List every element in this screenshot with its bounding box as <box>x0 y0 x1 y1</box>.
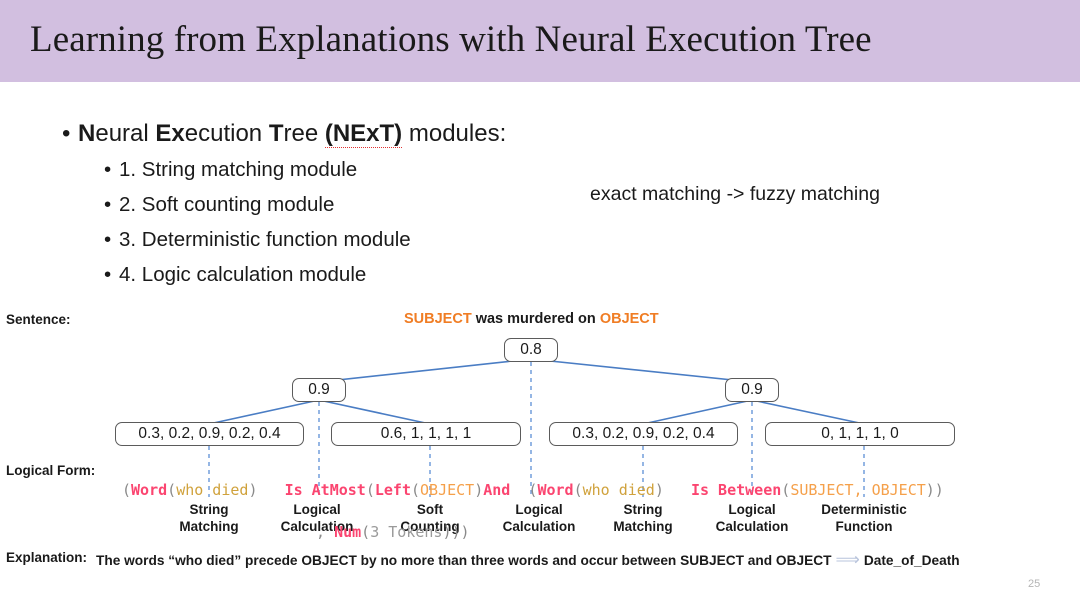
logical-form-expression: (Word(who died) Is AtMost(Left(OBJECT)An… <box>122 459 1052 564</box>
logical-form-line-2: , Num(3 Tokens))) <box>122 522 1052 543</box>
tree-node-level2-right: 0.9 <box>725 378 779 402</box>
tree-node-level2-left: 0.9 <box>292 378 346 402</box>
list-item: •2. Soft counting module <box>104 187 582 222</box>
lf-token <box>257 481 284 499</box>
lf-token: , <box>316 523 334 541</box>
lf-token: who died <box>176 481 248 499</box>
lf-token: ( <box>510 481 537 499</box>
list-item-label: 1. String matching module <box>119 158 357 181</box>
tree-node-leaf: 0, 1, 1, 1, 0 <box>765 422 955 446</box>
lf-token: Is AtMost <box>285 481 366 499</box>
sentence-text: SUBJECT was murdered on OBJECT <box>404 311 659 327</box>
lf-token: ) <box>655 481 664 499</box>
lf-token: OBJECT <box>420 481 474 499</box>
lf-token: ))) <box>442 523 469 541</box>
lf-token: ( <box>167 481 176 499</box>
tree-node-leaf: 0.3, 0.2, 0.9, 0.2, 0.4 <box>115 422 304 446</box>
list-item: •3. Deterministic function module <box>104 222 582 257</box>
sentence-subject-token: SUBJECT <box>404 311 472 327</box>
bullet-dot-icon: • <box>62 116 78 152</box>
lf-token: ( <box>122 481 131 499</box>
heading-part-3: Ex <box>155 120 184 147</box>
lf-token: ( <box>366 481 375 499</box>
list-item: •4. Logic calculation module <box>104 257 582 292</box>
heading-part-5: T <box>269 120 284 147</box>
slide-title-bar: Learning from Explanations with Neural E… <box>0 0 1080 82</box>
tree-node-leaf: 0.6, 1, 1, 1, 1 <box>331 422 521 446</box>
heading-part-1: N <box>78 120 95 147</box>
bullet-dot-icon: • <box>104 257 119 292</box>
lf-token: )) <box>926 481 944 499</box>
lf-token: Num <box>334 523 361 541</box>
heading-acronym: (NExT) <box>325 120 402 148</box>
list-item-label: 3. Deterministic function module <box>119 228 411 251</box>
heading-part-6: ree <box>283 120 324 147</box>
lf-token: 3 Tokens <box>370 523 442 541</box>
bullet-dot-icon: • <box>104 187 119 222</box>
sentence-object-token: OBJECT <box>600 311 659 327</box>
lf-token: who died <box>583 481 655 499</box>
page-number: 25 <box>1028 578 1040 590</box>
bullet-dot-icon: • <box>104 152 119 187</box>
heading-part-2: eural <box>95 120 155 147</box>
heading-part-8: modules: <box>402 120 506 147</box>
lf-token: SUBJECT, <box>790 481 871 499</box>
row-label-logical-form: Logical Form: <box>6 463 95 478</box>
lf-token: ) <box>474 481 483 499</box>
tree-node-leaf: 0.3, 0.2, 0.9, 0.2, 0.4 <box>549 422 738 446</box>
list-item-label: 2. Soft counting module <box>119 193 334 216</box>
bullet-list: •Neural Execution Tree (NExT) modules: •… <box>62 116 582 292</box>
sentence-middle-text: was murdered on <box>472 311 600 327</box>
bullet-heading: •Neural Execution Tree (NExT) modules: <box>62 116 582 152</box>
lf-token: ( <box>361 523 370 541</box>
lf-token: ( <box>781 481 790 499</box>
lf-token: Left <box>375 481 411 499</box>
lf-token: Word <box>131 481 167 499</box>
page-title: Learning from Explanations with Neural E… <box>30 18 872 61</box>
heading-part-4: ecution <box>185 120 269 147</box>
lf-token: ( <box>574 481 583 499</box>
list-item: •1. String matching module <box>104 152 582 187</box>
bullet-dot-icon: • <box>104 222 119 257</box>
row-label-sentence: Sentence: <box>6 312 71 327</box>
lf-token: ( <box>411 481 420 499</box>
lf-token: Word <box>537 481 573 499</box>
lf-token <box>664 481 691 499</box>
lf-token: Is Between <box>691 481 781 499</box>
tree-node-root: 0.8 <box>504 338 558 362</box>
list-item-label: 4. Logic calculation module <box>119 263 366 286</box>
logical-form-line-1: (Word(who died) Is AtMost(Left(OBJECT)An… <box>122 480 1052 501</box>
side-annotation: exact matching -> fuzzy matching <box>590 183 880 206</box>
row-label-explanation: Explanation: <box>6 550 87 565</box>
lf-token: And <box>483 481 510 499</box>
lf-token: OBJECT <box>872 481 926 499</box>
